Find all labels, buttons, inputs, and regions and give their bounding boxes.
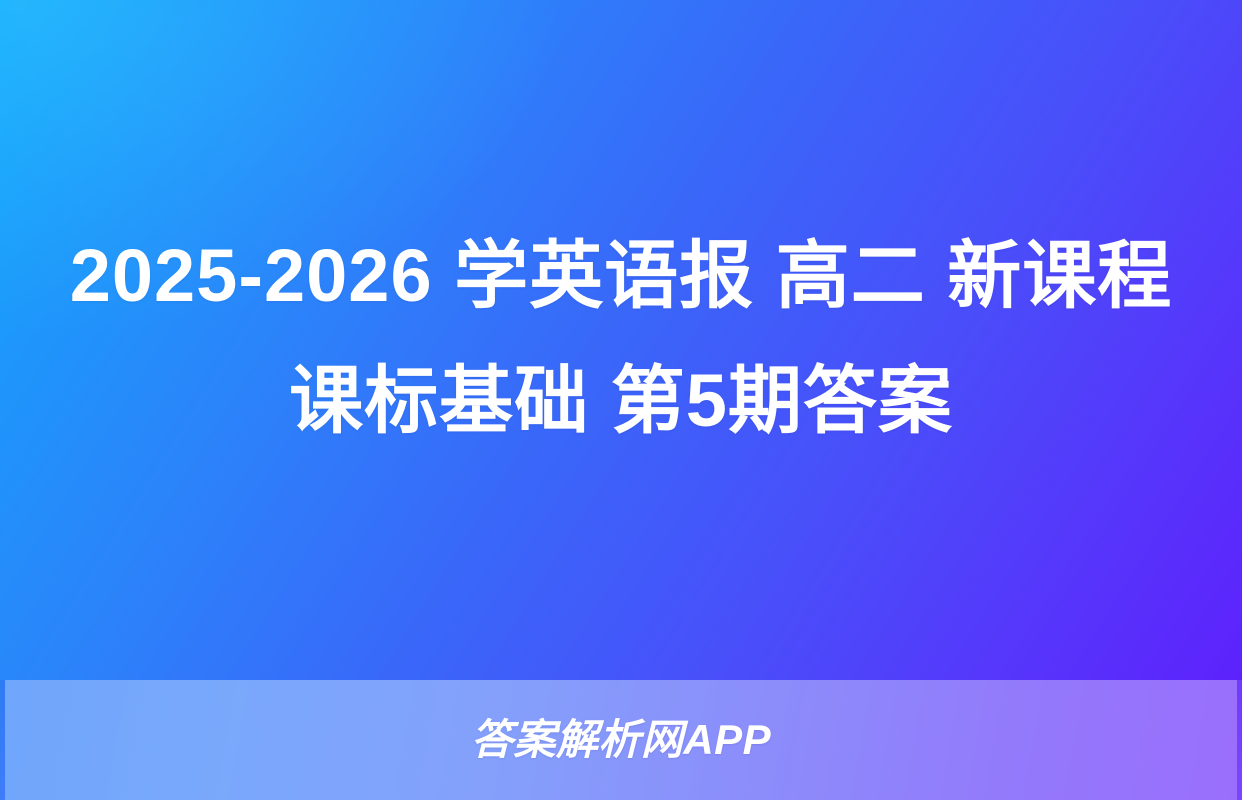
page-title: 2025-2026 学英语报 高二 新课程课标基础 第5期答案 <box>61 213 1181 467</box>
answer-banner: 2025-2026 学英语报 高二 新课程课标基础 第5期答案 答案解析网APP <box>0 0 1242 800</box>
footer-edge-left <box>0 680 5 800</box>
footer-edge-right <box>1237 680 1242 800</box>
watermark-footer: 答案解析网APP <box>0 680 1242 800</box>
watermark-text: 答案解析网APP <box>471 719 771 761</box>
hero-section: 2025-2026 学英语报 高二 新课程课标基础 第5期答案 <box>0 0 1242 680</box>
